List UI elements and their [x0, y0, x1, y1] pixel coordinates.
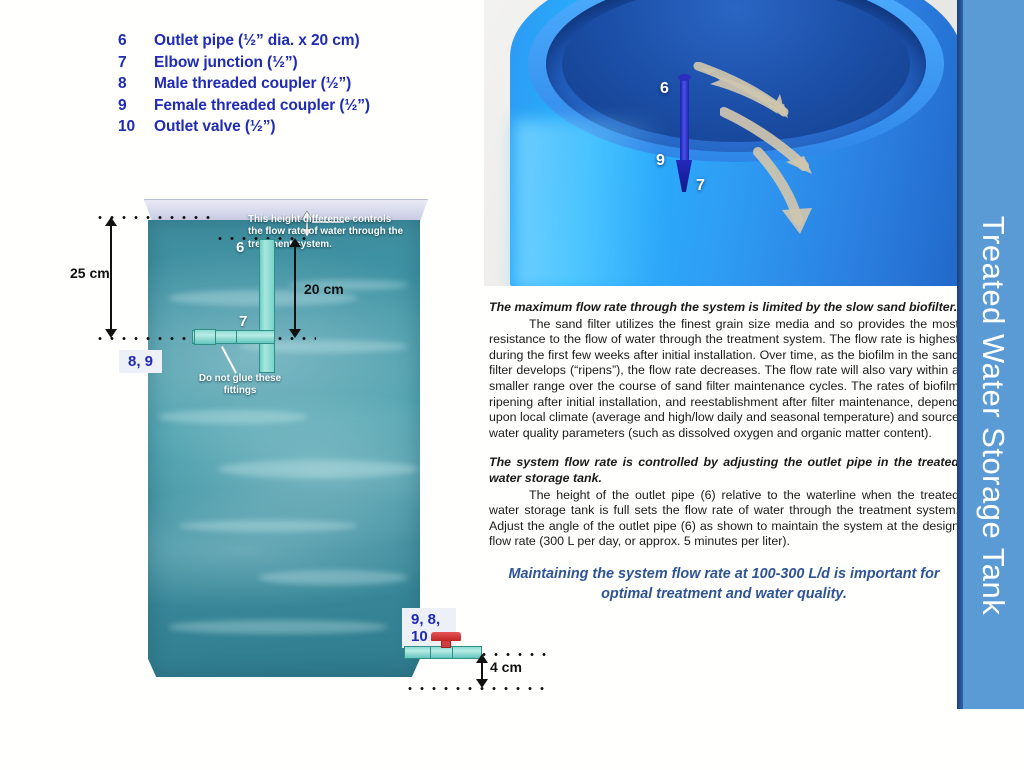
part-number: 9: [118, 95, 154, 117]
lede-paragraph-2: The system flow rate is controlled by ad…: [489, 455, 959, 486]
part-label: Elbow junction (½”): [154, 52, 498, 74]
part-label: Male threaded coupler (½”): [154, 73, 498, 95]
outlet-valve-handle-10[interactable]: [431, 632, 461, 641]
dim-25cm-label: 25 cm: [70, 265, 110, 281]
part-number: 7: [118, 52, 154, 74]
pipe-seam: [452, 646, 453, 659]
parts-list: 6 Outlet pipe (½” dia. x 20 cm) 7 Elbow …: [118, 30, 498, 138]
part-label: Outlet valve (½”): [154, 116, 498, 138]
parts-list-item: 8 Male threaded coupler (½”): [118, 73, 498, 95]
dim-25cm-line: [110, 225, 112, 330]
parts-list-item: 10 Outlet valve (½”): [118, 116, 498, 138]
barrel-highlight: [514, 120, 664, 286]
dim-4cm-label: 4 cm: [490, 659, 522, 675]
sidebar-title: Treated Water Storage Tank: [963, 61, 1024, 770]
body-text-column: The maximum flow rate through the system…: [489, 300, 959, 604]
badge-8-9: 8, 9: [119, 350, 162, 373]
dim-20cm-arrow-bottom: [289, 329, 301, 338]
body-paragraph-2: The height of the outlet pipe (6) relati…: [489, 488, 959, 550]
part-label: Outlet pipe (½” dia. x 20 cm): [154, 30, 498, 52]
tank-cross-section-diagram: This height difference controls the flow…: [86, 195, 456, 695]
dim-4cm-arrow-bottom: [476, 679, 488, 688]
tank-water-body: [148, 220, 420, 677]
conclusion-statement: Maintaining the system flow rate at 100-…: [489, 564, 959, 604]
dim-20cm-label: 20 cm: [304, 281, 344, 297]
photo-label-9: 9: [656, 152, 665, 170]
part-number: 6: [118, 30, 154, 52]
callout-do-not-glue: Do not glue these fittings: [194, 373, 286, 398]
barrel-photo: 6 9 7 Adjusting the outlet pipe downward…: [484, 0, 963, 286]
part-label: Female threaded coupler (½”): [154, 95, 498, 117]
pipe-seam: [236, 330, 237, 344]
photo-label-7: 7: [696, 177, 705, 195]
lede-paragraph-1: The maximum flow rate through the system…: [489, 300, 959, 316]
photo-pipe-cap: [678, 74, 691, 81]
flow-arrow-3-icon: [752, 146, 832, 236]
dim-20cm-line: [294, 246, 296, 330]
photo-outlet-pipe: [680, 78, 689, 170]
part-number: 8: [118, 73, 154, 95]
body-paragraph-1: The sand filter utilizes the finest grai…: [489, 317, 959, 442]
diagram-label-6: 6: [236, 239, 244, 256]
dim-25cm-arrow-bottom: [105, 329, 117, 338]
dim-4cm-line: [481, 662, 483, 680]
parts-list-item: 9 Female threaded coupler (½”): [118, 95, 498, 117]
part-number: 10: [118, 116, 154, 138]
parts-list-item: 6 Outlet pipe (½” dia. x 20 cm): [118, 30, 498, 52]
photo-label-6: 6: [660, 80, 669, 98]
callout-do-not-glue-text: Do not glue these fittings: [199, 373, 281, 396]
pipe-seam: [430, 646, 431, 659]
threaded-coupler-8-9: [194, 329, 216, 345]
sidebar: Treated Water Storage Tank: [963, 0, 1024, 709]
diagram-label-7: 7: [239, 313, 247, 330]
outlet-pipe-6: [259, 239, 275, 373]
parts-list-item: 7 Elbow junction (½”): [118, 52, 498, 74]
